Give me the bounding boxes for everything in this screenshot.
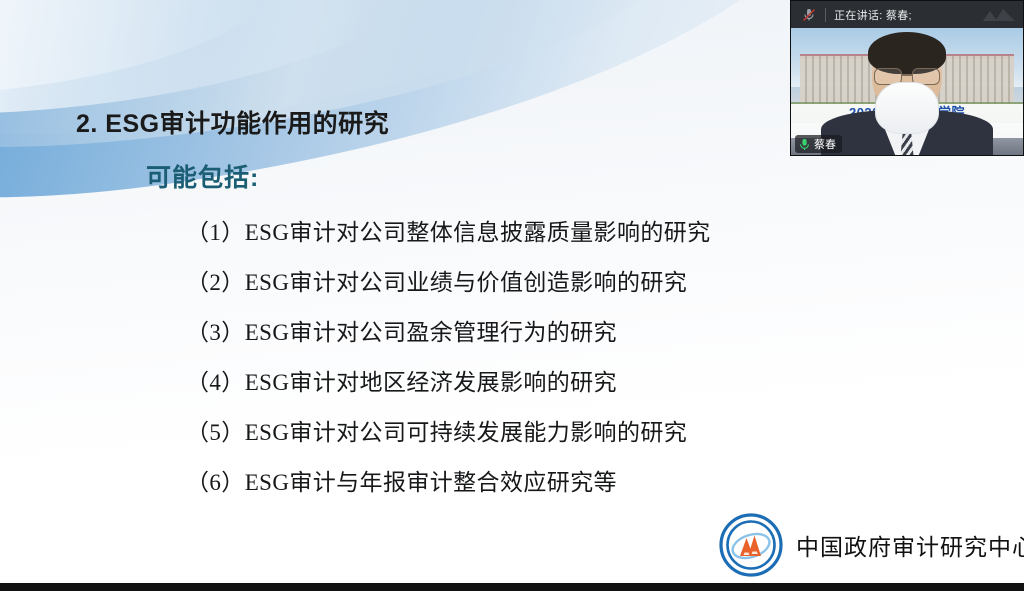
video-header-bar: 正在讲话: 蔡春; [791, 1, 1023, 28]
speaking-status-label: 正在讲话: 蔡春; [834, 7, 912, 23]
bullet-list: （1）ESG审计对公司整体信息披露质量影响的研究 （2）ESG审计对公司业绩与价… [186, 208, 846, 508]
speaker-face-mask [875, 82, 939, 134]
decorative-wave-2 [0, 0, 732, 181]
list-item: （4）ESG审计对地区经济发展影响的研究 [186, 358, 846, 408]
slide-title: 2. ESG审计功能作用的研究 [76, 104, 389, 140]
aaa-circle-emblem-icon [718, 512, 784, 578]
screen-root: 2. ESG审计功能作用的研究 可能包括: （1）ESG审计对公司整体信息披露质… [0, 0, 1024, 591]
microphone-muted-icon[interactable] [801, 7, 817, 23]
participant-name: 蔡春 [814, 136, 836, 152]
list-item: （6）ESG审计与年报审计整合效应研究等 [186, 458, 846, 508]
organization-name: 中国政府审计研究中心 [796, 528, 1024, 562]
decorative-wave-highlight [0, 0, 816, 172]
list-item: （1）ESG审计对公司整体信息披露质量影响的研究 [186, 208, 846, 258]
decorative-wave-4 [0, 0, 285, 113]
bottom-letterbox-bar [0, 583, 1024, 591]
video-feed[interactable]: 2022年西 管理学院 工 作 蔡春 [791, 28, 1023, 156]
chevron-brand-watermark-icon [981, 6, 1017, 23]
list-item: （5）ESG审计对公司可持续发展能力影响的研究 [186, 408, 846, 458]
microphone-active-icon [799, 138, 810, 151]
list-item: （3）ESG审计对公司盈余管理行为的研究 [186, 308, 846, 358]
slide-subtitle: 可能包括: [146, 158, 259, 194]
video-conference-panel[interactable]: 正在讲话: 蔡春; 2022年西 [790, 0, 1024, 156]
header-divider [825, 8, 826, 22]
footer-organization-logo: 中国政府审计研究中心 [718, 512, 1024, 578]
list-item: （2）ESG审计对公司业绩与价值创造影响的研究 [186, 258, 846, 308]
participant-name-badge: 蔡春 [795, 135, 842, 153]
